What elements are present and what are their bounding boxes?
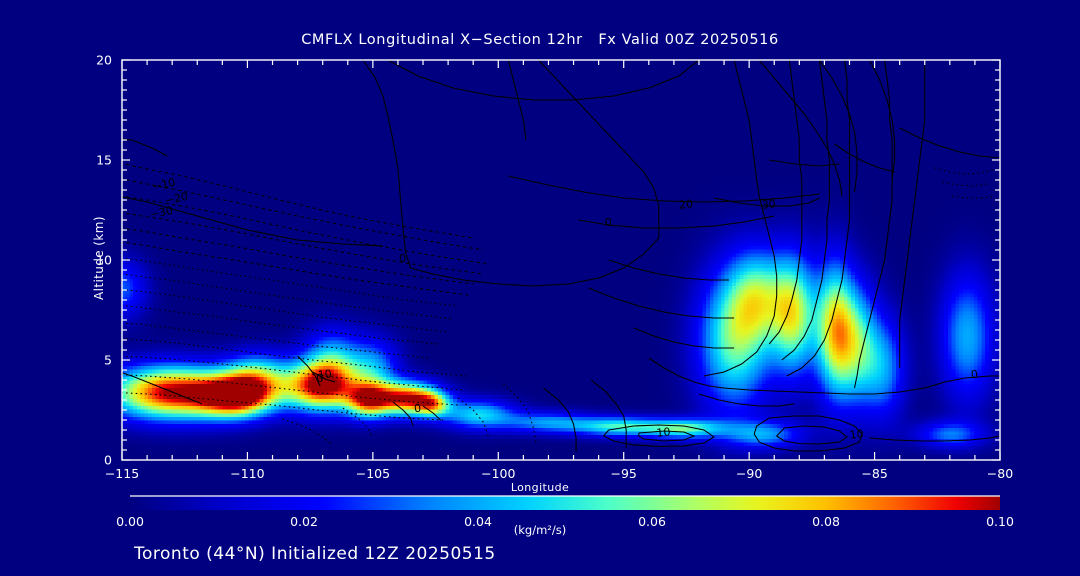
colorbar-unit-label: (kg/m²/s) xyxy=(0,523,1080,537)
contour-label-0-5: 0 xyxy=(105,128,113,142)
x-tick-label: −85 xyxy=(861,466,887,481)
contour-label-20-0: 20 xyxy=(678,197,693,211)
plot-area: −30−20−100000001010102030 xyxy=(105,60,1001,461)
y-tick-label: 20 xyxy=(96,53,112,68)
x-tick-label: −80 xyxy=(987,466,1013,481)
x-tick-label: −90 xyxy=(736,466,762,481)
shaded-field xyxy=(122,60,1001,461)
contour-label-10-1: 10 xyxy=(849,427,864,441)
y-tick-label: 5 xyxy=(104,353,112,368)
y-tick-label: 15 xyxy=(96,153,112,168)
x-tick-label: −105 xyxy=(356,466,390,481)
figure-caption: Toronto (44°N) Initialized 12Z 20250515 xyxy=(134,544,496,564)
colorbar-gradient xyxy=(130,496,1000,510)
contour-label-10-0: 10 xyxy=(656,425,671,439)
y-tick-label: 0 xyxy=(104,453,112,468)
x-tick-label: −110 xyxy=(230,466,264,481)
contour-label-0-0: 0 xyxy=(398,252,406,266)
x-tick-label: −100 xyxy=(481,466,515,481)
contour-label-0-3: 0 xyxy=(604,216,612,230)
x-tick-label: −95 xyxy=(611,466,637,481)
contour-label-30-0: 30 xyxy=(761,197,776,211)
contour-label-10-2: 10 xyxy=(317,367,332,381)
x-tick-label: −115 xyxy=(105,466,139,481)
contour-label-0-2: 0 xyxy=(413,402,421,416)
contour-label-0-4: 0 xyxy=(970,368,978,382)
y-axis-label: Altitude (km) xyxy=(92,216,106,300)
x-axis-label: Longitude xyxy=(0,481,1080,494)
